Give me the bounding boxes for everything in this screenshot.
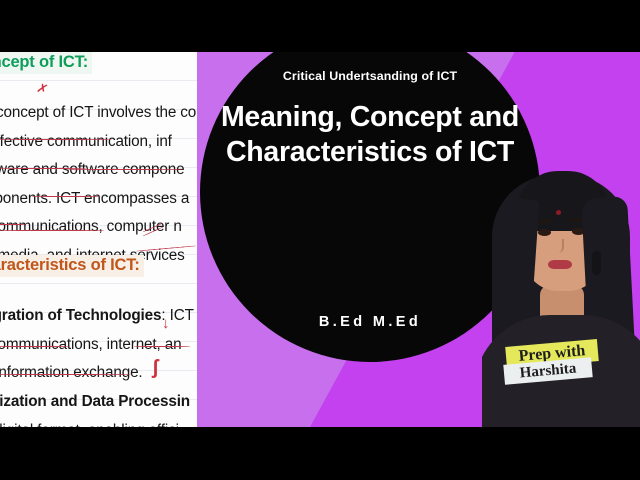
presenter-lips (548, 260, 572, 269)
doc-line-bold: Integration of Technologies (0, 307, 161, 324)
heading-concept-of-ict: Concept of ICT: (0, 52, 92, 74)
presenter-bindi (556, 210, 561, 215)
paragraph-concept: The concept of ICT involves the co for e… (0, 99, 197, 270)
pen-underline (0, 374, 132, 375)
paragraph-digitization: Digitization and Data Processin into dig… (0, 388, 197, 427)
notes-document-panel: Concept of ICT: The concept of ICT invol… (0, 52, 197, 427)
doc-line: The concept of ICT involves the co (0, 99, 197, 128)
doc-line: telecommunications, computer n (0, 213, 197, 242)
slide-eyebrow: Critical Undertsanding of ICT (270, 68, 470, 85)
doc-line: for effective communication, inf (0, 128, 197, 157)
video-player-frame: Concept of ICT: The concept of ICT invol… (0, 0, 640, 480)
doc-line: into digital format, enabling effici (0, 417, 197, 428)
pen-underline (0, 346, 70, 347)
pen-underline (0, 230, 104, 231)
letterbox-top (0, 0, 640, 52)
doc-line: Digitization and Data Processin (0, 388, 197, 417)
pen-underline (66, 169, 184, 170)
pen-underline (0, 139, 112, 140)
pen-mark-check: ʃ (152, 358, 159, 378)
slide-panel: Critical Undertsanding of ICT Meaning, C… (197, 52, 640, 427)
presenter-eye-left (538, 229, 551, 236)
heading-characteristics-of-ict: Characteristics of ICT: (0, 255, 144, 277)
doc-line-bold: Digitization and Data Processin (0, 393, 190, 410)
doc-line: components. ICT encompasses a (0, 185, 197, 214)
presenter-figure: Prep with Harshita (482, 147, 640, 427)
doc-line: hardware and software compone (0, 156, 197, 185)
pen-mark-arrow-down: ↓ (162, 316, 170, 331)
slide-title: Meaning, Concept and Characteristics of … (220, 100, 520, 170)
doc-line: telecommunications, internet, an (0, 331, 197, 360)
letterbox-bottom (0, 427, 640, 480)
video-content-area: Concept of ICT: The concept of ICT invol… (0, 52, 640, 427)
presenter-earring (592, 251, 601, 275)
